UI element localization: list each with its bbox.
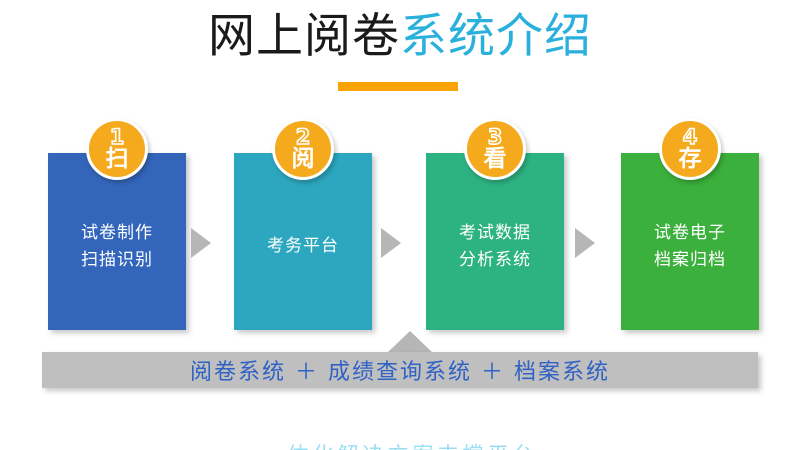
step-card-2-line-1: 考务平台 [267, 233, 339, 259]
step-badge-4: 4 存 [659, 118, 721, 180]
step-card-1-line-2: 扫描识别 [81, 247, 153, 273]
step-card-4-text: 试卷电子 档案归档 [654, 220, 726, 273]
step-card-3-text: 考试数据 分析系统 [459, 220, 531, 273]
step-badge-3-char: 看 [484, 148, 507, 171]
step-card-3-line-2: 分析系统 [459, 247, 531, 273]
flow-arrow-right-2-icon [381, 228, 401, 258]
step-card-4-line-1: 试卷电子 [654, 220, 726, 246]
flow-step-3[interactable]: 考试数据 分析系统 3 看 [420, 118, 570, 333]
title-primary: 网上阅卷 [208, 9, 400, 64]
flow-step-1[interactable]: 试卷制作 扫描识别 1 扫 [42, 118, 192, 333]
summary-arrow-up-icon [387, 331, 433, 353]
step-card-2-text: 考务平台 [267, 233, 339, 259]
cut-off-caption-text: 一体化解决方案支撑平台 [263, 441, 538, 450]
summary-bar[interactable]: 阅卷系统 ＋ 成绩查询系统 ＋ 档案系统 [42, 352, 758, 388]
step-card-1-text: 试卷制作 扫描识别 [81, 220, 153, 273]
step-badge-2-char: 阅 [292, 148, 315, 171]
flow-step-2[interactable]: 考务平台 2 阅 [228, 118, 378, 333]
flow-arrow-right-1-icon [191, 228, 211, 258]
title-accent: 系统介绍 [400, 9, 592, 64]
title-underline-rule [338, 82, 458, 91]
step-badge-2: 2 阅 [272, 118, 334, 180]
step-badge-3-number: 3 [488, 129, 503, 147]
step-card-1-line-1: 试卷制作 [81, 220, 153, 246]
step-badge-1-number: 1 [110, 129, 125, 147]
step-badge-1: 1 扫 [86, 118, 148, 180]
step-badge-3: 3 看 [464, 118, 526, 180]
step-badge-2-number: 2 [296, 129, 311, 147]
step-badge-1-char: 扫 [106, 148, 129, 171]
summary-bar-text: 阅卷系统 ＋ 成绩查询系统 ＋ 档案系统 [190, 354, 610, 386]
page-title: 网上阅卷系统介绍 [208, 13, 592, 60]
step-card-3-line-1: 考试数据 [459, 220, 531, 246]
cut-off-caption: 一体化解决方案支撑平台 [0, 441, 800, 450]
process-flow: 试卷制作 扫描识别 1 扫 考务平台 2 阅 考试数据 分析系统 [0, 118, 800, 333]
flow-step-4[interactable]: 试卷电子 档案归档 4 存 [615, 118, 765, 333]
step-badge-4-char: 存 [679, 148, 702, 171]
step-badge-4-number: 4 [683, 129, 698, 147]
slide-title-area: 网上阅卷系统介绍 [0, 0, 800, 72]
step-card-4-line-2: 档案归档 [654, 247, 726, 273]
flow-arrow-right-3-icon [575, 228, 595, 258]
